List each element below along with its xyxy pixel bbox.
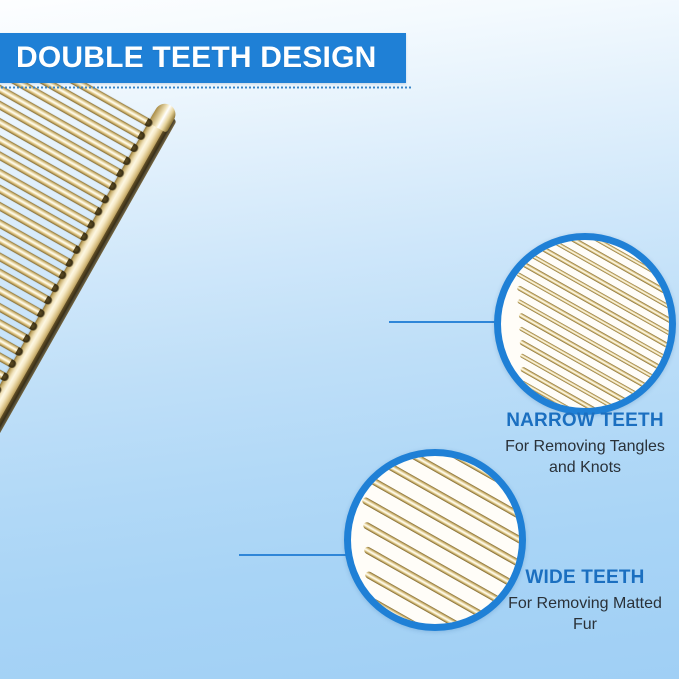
label-block-wide-teeth: WIDE TEETH For Removing Matted Fur	[489, 567, 679, 636]
connector-line-narrow	[389, 321, 504, 323]
wide-detail-tooth	[365, 595, 484, 631]
narrow-teeth-heading: NARROW TEETH	[489, 410, 679, 433]
infographic-canvas: DOUBLE TEETH DESIGN NARROW TEETH For Rem…	[0, 0, 679, 679]
header-divider	[0, 86, 413, 89]
comb-illustration	[0, 0, 404, 679]
narrow-detail-tooth	[517, 298, 669, 386]
wide-teeth-heading: WIDE TEETH	[489, 567, 679, 590]
narrow-teeth-description-line2: and Knots	[489, 457, 679, 479]
wide-teeth-description-line2: Fur	[489, 614, 679, 636]
wide-detail-tooth	[364, 570, 494, 631]
narrow-teeth-description-line1: For Removing Tangles	[489, 436, 679, 458]
page-title: DOUBLE TEETH DESIGN	[16, 43, 377, 73]
narrow-teeth-zoom-detail	[494, 233, 676, 415]
wide-teeth-description-line1: For Removing Matted	[489, 593, 679, 615]
label-block-narrow-teeth: NARROW TEETH For Removing Tangles and Kn…	[489, 410, 679, 479]
callout-circle-narrow-teeth	[494, 233, 676, 415]
title-banner: DOUBLE TEETH DESIGN	[0, 33, 406, 83]
connector-line-wide	[239, 554, 351, 556]
